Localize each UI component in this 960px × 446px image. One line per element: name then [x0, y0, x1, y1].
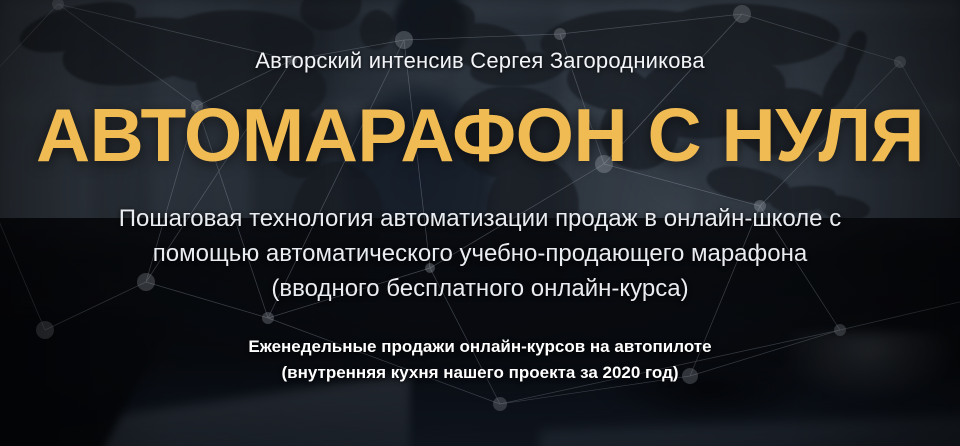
- hero-headline: АВТОМАРАФОН С НУЛЯ: [36, 98, 924, 173]
- hero-tagline-line-2: (внутренняя кухня нашего проекта за 2020…: [248, 360, 711, 386]
- hero-description-line-2: помощью автоматического учебно-продающег…: [119, 236, 841, 271]
- hero-tagline-line-1: Еженедельные продажи онлайн-курсов на ав…: [248, 334, 711, 360]
- hero-description-line-3: (вводного бесплатного онлайн-курса): [119, 271, 841, 306]
- hero-tagline: Еженедельные продажи онлайн-курсов на ав…: [248, 334, 711, 386]
- hero-banner: Авторский интенсив Сергея Загородникова …: [0, 0, 960, 446]
- hero-description: Пошаговая технология автоматизации прода…: [119, 201, 841, 306]
- hero-description-line-1: Пошаговая технология автоматизации прода…: [119, 201, 841, 236]
- hero-eyebrow: Авторский интенсив Сергея Загородникова: [255, 48, 705, 74]
- hero-content: Авторский интенсив Сергея Загородникова …: [0, 0, 960, 446]
